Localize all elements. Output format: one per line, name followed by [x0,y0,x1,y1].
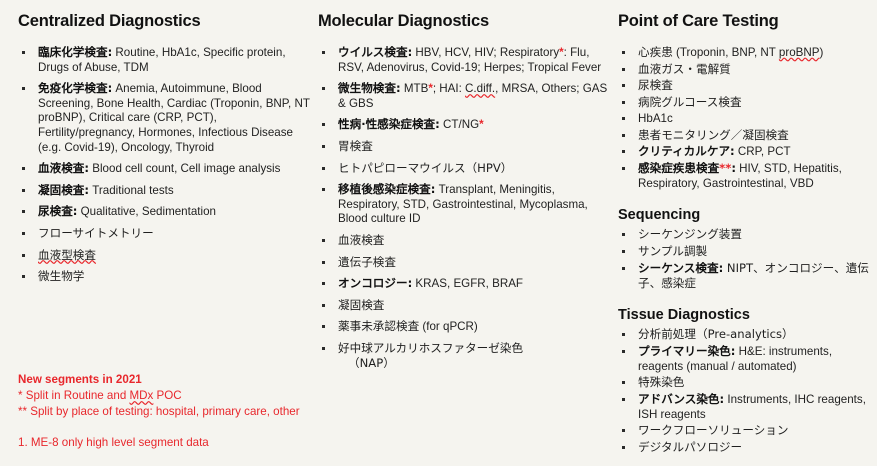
legend-footnote: 1. ME-8 only high level segment data [18,435,348,450]
bullet-term: 凝固検査: [38,183,89,197]
list-item: 薬事未承認検査 (for qPCR) [318,319,614,335]
bullet-desc: KRAS, EGFR, BRAF [412,277,523,290]
list-item: 血液検査: Blood cell count, Cell image analy… [18,161,314,177]
bullet-desc: Blood cell count, Cell image analysis [89,162,280,175]
list-item: 凝固検査 [318,298,614,314]
bullet-desc: Qualitative, Sedimentation [77,205,216,218]
bullet-term: シーケンジング装置 [638,227,742,241]
bullet-term: 感染症疾患検査**: [638,161,736,175]
bullet-list-molecular: ウイルス検査: HBV, HCV, HIV; Respiratory*: Flu… [318,45,614,371]
bullet-term: シーケンス検査: [638,261,723,275]
bullet-desc: CRP, PCT [735,145,791,158]
legend-title: New segments in 2021 [18,372,348,387]
bullet-term: 患者モニタリング／凝固検査 [638,128,789,142]
bullet-term: HbA1c [638,112,673,125]
legend-note-double-star: ** Split by place of testing: hospital, … [18,404,348,419]
bullet-term: クリティカルケア: [638,144,735,158]
bullet-term: 血液型検査 [38,248,96,262]
slide-canvas: Centralized Diagnostics 臨床化学検査: Routine,… [0,0,877,466]
list-item: 凝固検査: Traditional tests [18,183,314,199]
list-item: デジタルパソロジー [618,440,870,455]
bullet-term: ヒトパピローマウイルス（HPV） [338,161,512,175]
list-item: オンコロジー: KRAS, EGFR, BRAF [318,276,614,292]
bullet-list-poc: 心疾患 (Troponin, BNP, NT proBNP) 血液ガス・電解質 … [618,45,870,191]
list-item: 血液ガス・電解質 [618,62,870,77]
bullet-term: 分析前処理（Pre-analytics） [638,327,794,341]
list-item: クリティカルケア: CRP, PCT [618,144,870,159]
bullet-term: 病院グルコース検査 [638,95,742,109]
list-item: フローサイトメトリー [18,226,314,242]
legend-note-single-star: * Split in Routine and MDx POC [18,388,348,403]
column-point-of-care-testing: Point of Care Testing 心疾患 (Troponin, BNP… [618,0,870,457]
bullet-term: 好中球アルカリホスファターゼ染色（NAP） [338,341,614,371]
bullet-list-tissue: 分析前処理（Pre-analytics） プライマリー染色: H&E: inst… [618,327,870,455]
list-item: 血液検査 [318,233,614,249]
list-item: ワークフローソリューション [618,423,870,438]
bullet-term: 微生物学 [38,269,84,283]
list-item: 血液型検査 [18,248,314,264]
bullet-term: 心疾患 [638,45,673,59]
bullet-term: 凝固検査 [338,298,384,312]
bullet-term: 血液ガス・電解質 [638,62,731,76]
column-heading-poc: Point of Care Testing [618,12,870,31]
column-centralized-diagnostics: Centralized Diagnostics 臨床化学検査: Routine,… [18,0,314,291]
bullet-term: アドバンス染色: [638,392,724,406]
list-item: 微生物検査: MTB*; HAI: C.diff., MRSA, Others;… [318,81,614,111]
legend-footnotes: New segments in 2021 * Split in Routine … [18,372,348,451]
bullet-list-centralized: 臨床化学検査: Routine, HbA1c, Specific protein… [18,45,314,285]
bullet-term: フローサイトメトリー [38,226,154,240]
list-item: 心疾患 (Troponin, BNP, NT proBNP) [618,45,870,60]
bullet-term: ワークフローソリューション [638,423,789,437]
list-item: プライマリー染色: H&E: instruments, reagents (ma… [618,344,870,374]
list-item: 患者モニタリング／凝固検査 [618,128,870,143]
asterisk-marker: * [479,118,484,131]
list-item: 胃検査 [318,139,614,155]
bullet-desc: (for qPCR) [419,320,478,333]
list-item: アドバンス染色: Instruments, IHC reagents, ISH … [618,392,870,422]
list-item: 感染症疾患検査**: HIV, STD, Hepatitis, Respirat… [618,161,870,191]
bullet-list-sequencing: シーケンジング装置 サンプル調製 シーケンス検査: NIPT、オンコロジー、遺伝… [618,227,870,290]
list-item: シーケンス検査: NIPT、オンコロジー、遺伝子、感染症 [618,261,870,291]
bullet-term: プライマリー染色: [638,344,735,358]
asterisk-marker: * [428,82,433,95]
bullet-term: 特殊染色 [638,375,684,389]
section-heading-sequencing: Sequencing [618,207,870,224]
bullet-term: 血液検査 [338,233,384,247]
bullet-term: 臨床化学検査: [38,45,112,59]
list-item: HbA1c [618,111,870,126]
list-item: 移植後感染症検査: Transplant, Meningitis, Respir… [318,182,614,227]
column-molecular-diagnostics: Molecular Diagnostics ウイルス検査: HBV, HCV, … [318,0,614,377]
bullet-term: 尿検査 [638,78,673,92]
bullet-term: 薬事未承認検査 [338,319,419,333]
list-item: シーケンジング装置 [618,227,870,242]
list-item: 好中球アルカリホスファターゼ染色（NAP） [318,341,614,371]
column-heading-centralized: Centralized Diagnostics [18,12,314,31]
list-item: 病院グルコース検査 [618,95,870,110]
bullet-desc: Traditional tests [89,184,174,197]
list-item: 臨床化学検査: Routine, HbA1c, Specific protein… [18,45,314,75]
list-item: 尿検査: Qualitative, Sedimentation [18,204,314,220]
column-heading-molecular: Molecular Diagnostics [318,12,614,31]
bullet-desc: (Troponin, BNP, NT proBNP) [673,46,824,59]
asterisk-marker: ** [719,161,731,175]
bullet-term: 血液検査: [38,161,89,175]
list-item: 特殊染色 [618,375,870,390]
list-item: 尿検査 [618,78,870,93]
bullet-term: 微生物検査: [338,81,401,95]
list-item: 遺伝子検査 [318,255,614,271]
list-item: サンプル調製 [618,244,870,259]
list-item: ウイルス検査: HBV, HCV, HIV; Respiratory*: Flu… [318,45,614,75]
bullet-term: 胃検査 [338,139,373,153]
list-item: 性病·性感染症検査: CT/NG* [318,117,614,133]
bullet-term: 遺伝子検査 [338,255,396,269]
bullet-term: 性病·性感染症検査: [338,117,440,131]
asterisk-marker: * [559,46,564,59]
bullet-term: 尿検査: [38,204,77,218]
bullet-term: デジタルパソロジー [638,440,742,454]
list-item: ヒトパピローマウイルス（HPV） [318,161,614,177]
section-heading-tissue-diagnostics: Tissue Diagnostics [618,307,870,324]
bullet-term: サンプル調製 [638,244,707,258]
bullet-term: 免疫化学検査: [38,81,112,95]
bullet-term: オンコロジー: [338,276,412,290]
list-item: 分析前処理（Pre-analytics） [618,327,870,342]
list-item: 微生物学 [18,269,314,285]
list-item: 免疫化学検査: Anemia, Autoimmune, Blood Screen… [18,81,314,155]
bullet-term: 移植後感染症検査: [338,182,435,196]
bullet-term: ウイルス検査: [338,45,412,59]
bullet-desc: CT/NG* [440,118,484,131]
